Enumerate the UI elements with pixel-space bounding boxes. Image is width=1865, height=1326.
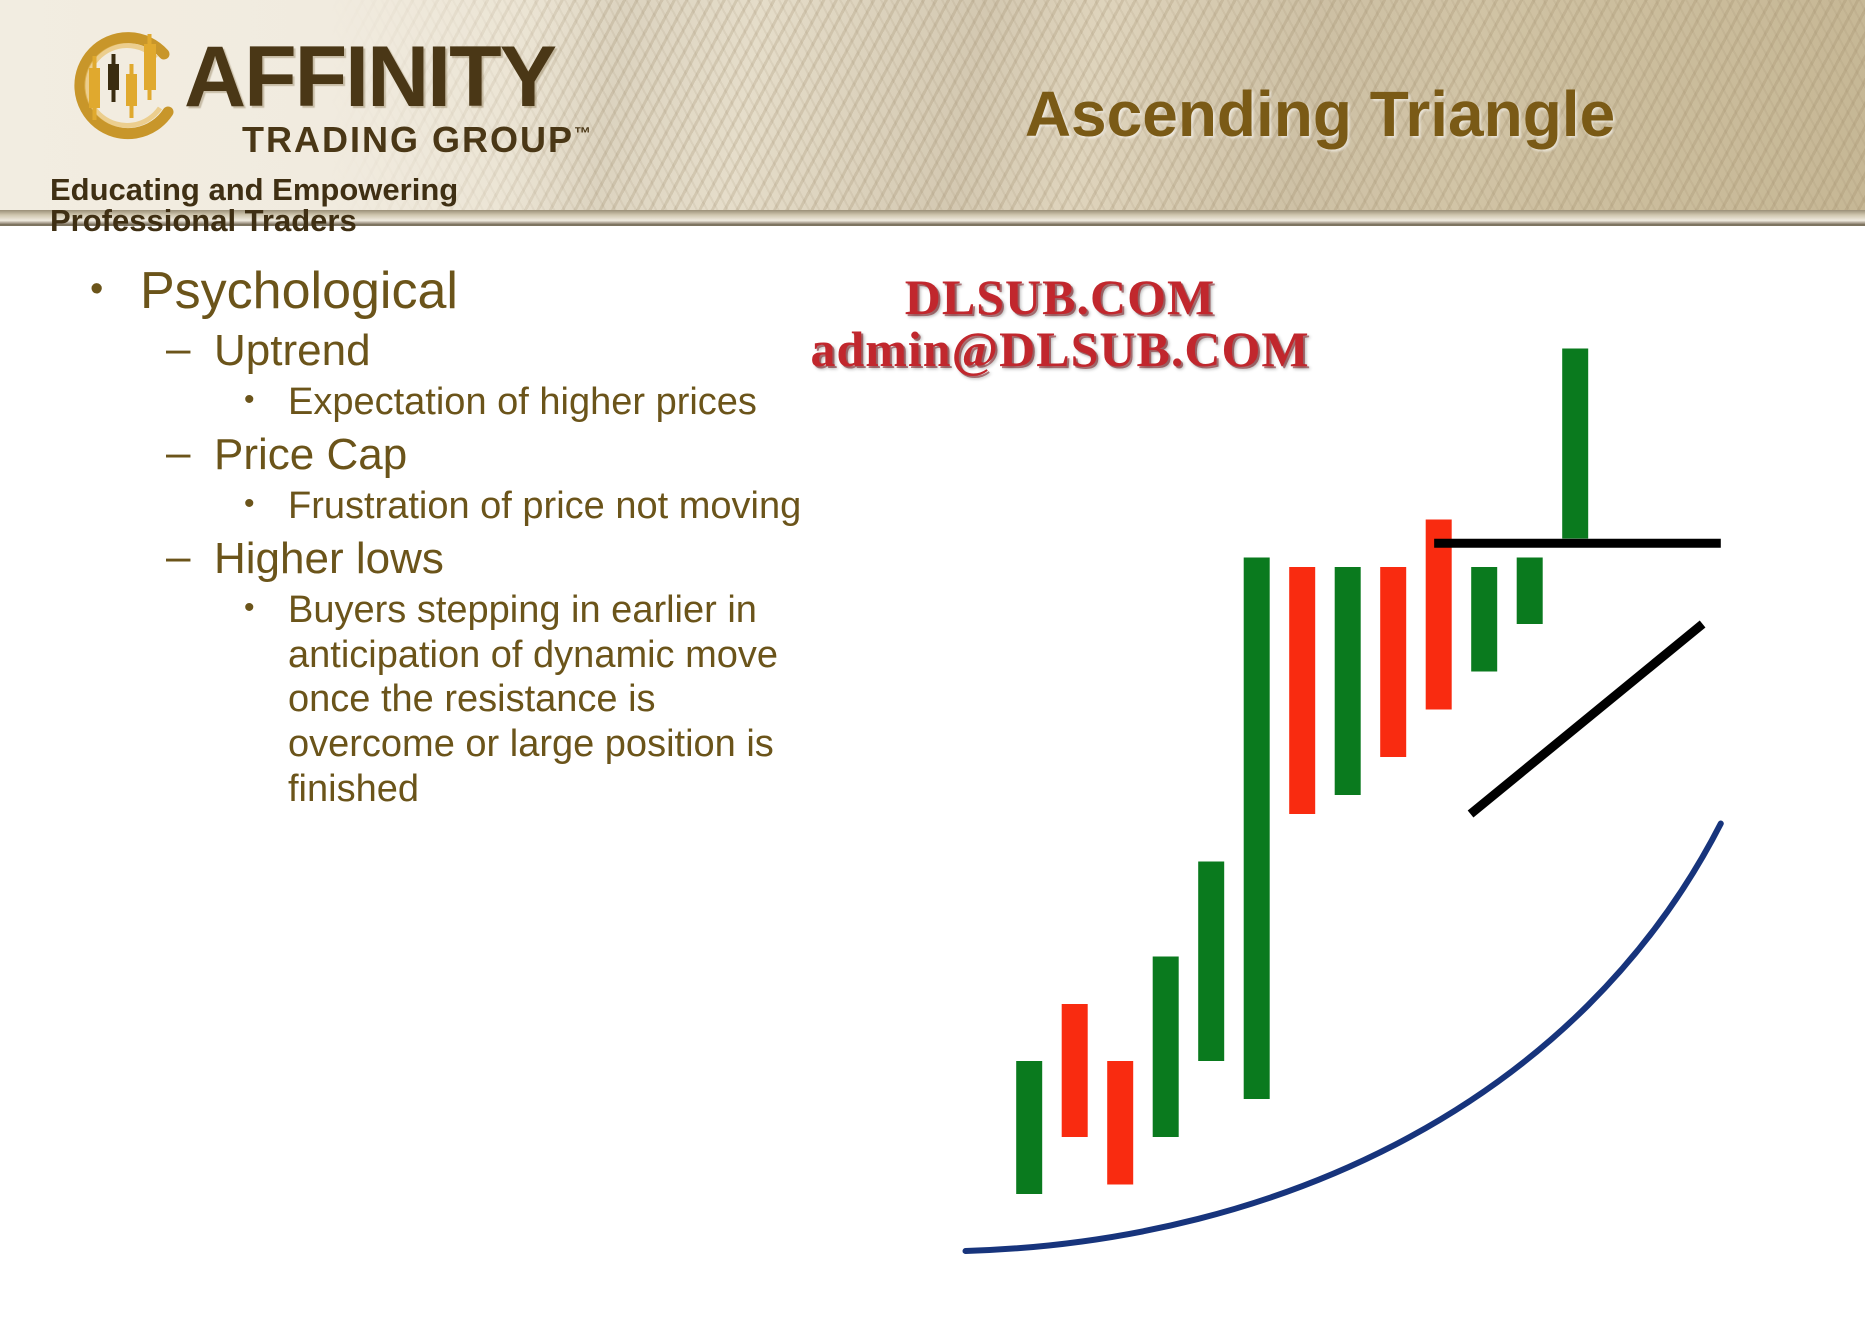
candle-2-down xyxy=(1062,1004,1088,1137)
bullet-marker-dash-icon: – xyxy=(166,326,190,372)
candle-3-down xyxy=(1107,1061,1133,1185)
bullet-marker-dash-icon: – xyxy=(166,534,190,580)
bullet-item-psychological: • Psychological xyxy=(62,262,822,320)
slide: AFFINITY TRADING GROUP™ Educating and Em… xyxy=(0,0,1865,1326)
logo-brand-subtext: TRADING GROUP™ xyxy=(242,122,591,158)
candle-12-up xyxy=(1517,558,1543,625)
company-logo[interactable]: AFFINITY TRADING GROUP™ Educating and Em… xyxy=(46,16,626,216)
candle-13-up xyxy=(1562,349,1588,539)
candle-6-up xyxy=(1244,558,1270,1100)
bullet-marker-dot-icon: • xyxy=(244,484,255,525)
support-trendline xyxy=(1471,624,1703,814)
candle-7-down xyxy=(1289,567,1315,814)
bullet-marker-dash-icon: – xyxy=(166,430,190,476)
bullet-label: Frustration of price not moving xyxy=(288,485,801,527)
bullet-list: • Psychological – Uptrend • Expectation … xyxy=(62,262,822,818)
candle-11-up xyxy=(1471,567,1497,672)
bullet-item-buyers-stepping-in: • Buyers stepping in earlier in anticipa… xyxy=(62,588,822,812)
candle-9-down xyxy=(1380,567,1406,757)
bullet-label: Price Cap xyxy=(214,430,407,479)
ascending-triangle-chart xyxy=(880,300,1860,1300)
logo-brand-text: AFFINITY xyxy=(184,34,555,120)
bullet-marker-dot-icon: • xyxy=(244,588,255,629)
candle-5-up xyxy=(1198,862,1224,1062)
bullet-label: Expectation of higher prices xyxy=(288,381,757,423)
bullet-label: Psychological xyxy=(140,262,458,320)
candle-8-up xyxy=(1335,567,1361,795)
bullet-label: Higher lows xyxy=(214,534,444,583)
page-title: Ascending Triangle xyxy=(800,82,1840,146)
bullet-item-price-cap: – Price Cap xyxy=(62,430,822,479)
candle-10-down xyxy=(1426,520,1452,710)
bullet-marker-dot-icon: • xyxy=(244,380,255,421)
trademark-icon: ™ xyxy=(574,124,591,143)
candle-4-up xyxy=(1153,957,1179,1138)
bullet-label: Uptrend xyxy=(214,326,371,375)
bullet-label: Buyers stepping in earlier in anticipati… xyxy=(288,589,778,810)
bullet-marker-dot-icon: • xyxy=(90,262,103,317)
candle-1-up xyxy=(1016,1061,1042,1194)
candlestick-circle-logo-icon xyxy=(56,28,186,148)
candle-series xyxy=(1016,349,1588,1195)
bullet-item-expectation-higher-prices: • Expectation of higher prices xyxy=(62,380,822,425)
bullet-item-uptrend: – Uptrend xyxy=(62,326,822,375)
chart-canvas xyxy=(880,300,1860,1300)
logo-tagline: Educating and Empowering Professional Tr… xyxy=(50,174,626,236)
logo-brand-subtext-label: TRADING GROUP xyxy=(242,119,574,160)
bullet-item-higher-lows: – Higher lows xyxy=(62,534,822,583)
bullet-item-frustration-price-not-moving: • Frustration of price not moving xyxy=(62,484,822,529)
